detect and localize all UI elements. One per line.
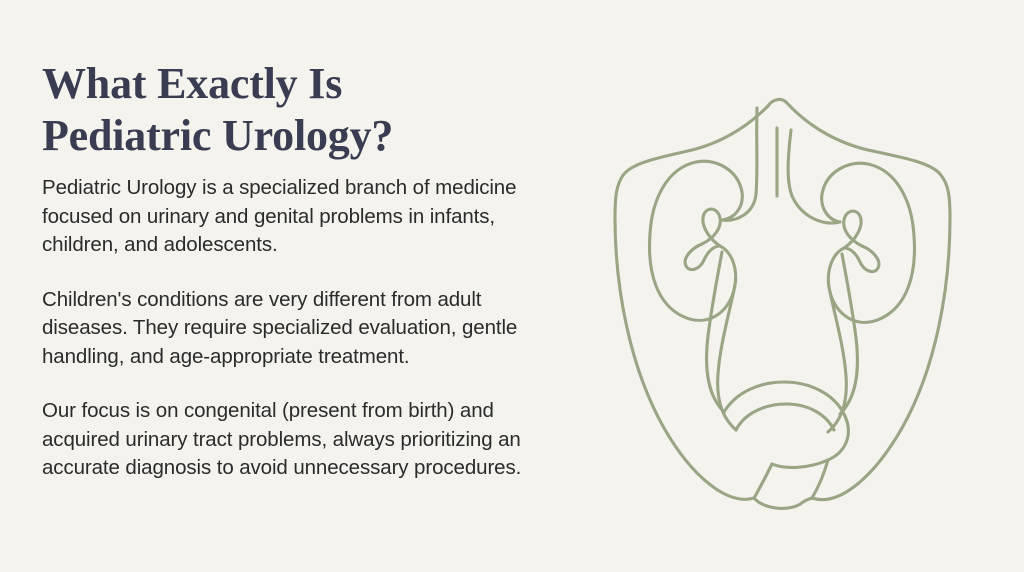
left-kidney-loop-lower [685, 244, 720, 270]
right-kidney-outline [822, 163, 915, 322]
body-copy: Pediatric Urology is a specialized branc… [42, 174, 562, 483]
left-renal-flow [722, 108, 757, 220]
shield-left-outline [615, 106, 768, 499]
page-title-line-1: What Exactly Is [42, 58, 562, 110]
text-column: What Exactly Is Pediatric Urology? Pedia… [42, 58, 562, 483]
left-ureter-inner [707, 252, 724, 412]
right-kidney-loop-upper [844, 211, 862, 248]
right-kidney-loop-lower [844, 246, 879, 272]
shield-right-outline [786, 102, 950, 500]
shield-urinary-tract-svg [596, 78, 976, 514]
right-ureter-inner [840, 254, 857, 414]
shield-bottom-point [754, 498, 812, 508]
urethra-left [754, 464, 772, 498]
paragraph-focus-areas: Our focus is on congenital (present from… [42, 397, 542, 483]
shield-urinary-tract-icon [596, 78, 976, 514]
paragraph-children-vs-adults: Children's conditions are very different… [42, 286, 542, 372]
page-title-line-2: Pediatric Urology? [42, 110, 562, 162]
page-title: What Exactly Is Pediatric Urology? [42, 58, 562, 162]
left-kidney-loop-upper [702, 209, 720, 246]
slide-canvas: What Exactly Is Pediatric Urology? Pedia… [0, 0, 1024, 572]
bladder-inner-curve [736, 404, 834, 430]
paragraph-definition: Pediatric Urology is a specialized branc… [42, 174, 542, 260]
shield-notch-line [768, 99, 786, 106]
left-kidney-outline [650, 161, 743, 320]
